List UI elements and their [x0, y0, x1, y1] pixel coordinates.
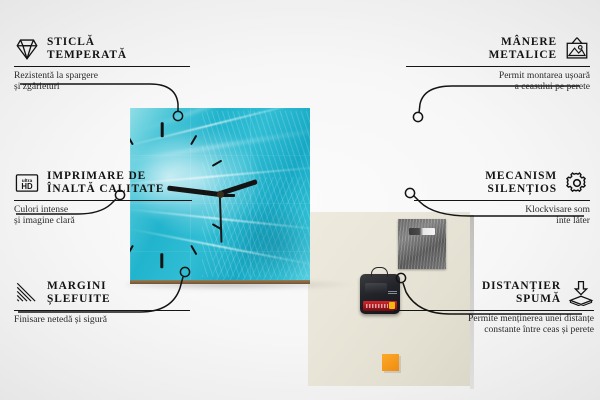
callout-divider	[414, 200, 590, 201]
callout-header: MECANISM SILENȚIOS	[414, 170, 590, 197]
hour-mark	[161, 122, 164, 137]
callout-header: ultra HD IMPRIMARE DE ÎNALTĂ CALITATE	[14, 170, 192, 197]
callout-divider	[394, 310, 594, 311]
callout-subtitle: Culori intense și imagine clară	[14, 204, 192, 227]
polished-edge-icon	[14, 280, 40, 306]
callout-high-quality-print: ultra HD IMPRIMARE DE ÎNALTĂ CALITATE Cu…	[14, 170, 192, 227]
battery	[363, 301, 397, 311]
hands-center-cap	[217, 191, 224, 198]
callout-silent-mechanism: MECANISM SILENȚIOS Klockvisare som inte …	[414, 170, 590, 227]
callout-header: DISTANȚIER SPUMĂ	[394, 280, 594, 307]
callout-divider	[14, 310, 190, 311]
callout-title: STICLĂ TEMPERATĂ	[47, 36, 127, 63]
hanger-slot	[409, 228, 435, 235]
press-down-pad-icon	[568, 280, 594, 306]
callout-subtitle: Permite menținerea unei distanțe constan…	[394, 314, 594, 336]
callout-divider	[406, 66, 590, 67]
foam-spacer	[382, 354, 399, 371]
callout-metal-handles: MÂNERE METALICE Permit montarea ușoară a…	[406, 36, 590, 93]
hour-mark	[190, 245, 197, 256]
battery-label	[366, 304, 388, 308]
callout-subtitle: Klockvisare som inte låter	[414, 204, 590, 227]
callout-subtitle: Permit montarea ușoară a ceasului pe per…	[406, 70, 590, 93]
mechanism-hook	[371, 267, 388, 277]
callout-polished-edges: MARGINI ȘLEFUITE Finisare netedă și sigu…	[14, 280, 190, 325]
hour-mark	[130, 245, 134, 256]
callout-header: MARGINI ȘLEFUITE	[14, 280, 190, 307]
ultra-hd-icon: ultra HD	[14, 170, 40, 196]
second-hand	[219, 191, 222, 243]
callout-header: MÂNERE METALICE	[406, 36, 590, 63]
callout-subtitle: Rezistentă la spargere și zgârieturi	[14, 70, 190, 93]
diamond-icon	[14, 36, 40, 62]
callout-divider	[14, 200, 192, 201]
callout-header: STICLĂ TEMPERATĂ	[14, 36, 190, 63]
hanging-frame-icon	[564, 36, 590, 62]
callout-title: MÂNERE METALICE	[489, 36, 557, 63]
hour-mark	[212, 160, 223, 167]
callout-tempered-glass: STICLĂ TEMPERATĂ Rezistentă la spargere …	[14, 36, 190, 93]
callout-divider	[14, 66, 190, 67]
hour-mark	[190, 135, 197, 146]
infographic-canvas: STICLĂ TEMPERATĂ Rezistentă la spargere …	[0, 0, 600, 400]
gear-icon	[564, 170, 590, 196]
callout-title: IMPRIMARE DE ÎNALTĂ CALITATE	[47, 170, 164, 197]
callout-foam-spacer: DISTANȚIER SPUMĂ Permite menținerea unei…	[394, 280, 594, 335]
hour-mark	[161, 253, 164, 268]
callout-title: DISTANȚIER SPUMĂ	[482, 280, 561, 307]
callout-title: MARGINI ȘLEFUITE	[47, 280, 111, 307]
callout-subtitle: Finisare netedă și sigură	[14, 314, 190, 325]
callout-title: MECANISM SILENȚIOS	[485, 170, 557, 197]
svg-text:HD: HD	[21, 182, 33, 191]
hour-mark	[130, 135, 134, 146]
